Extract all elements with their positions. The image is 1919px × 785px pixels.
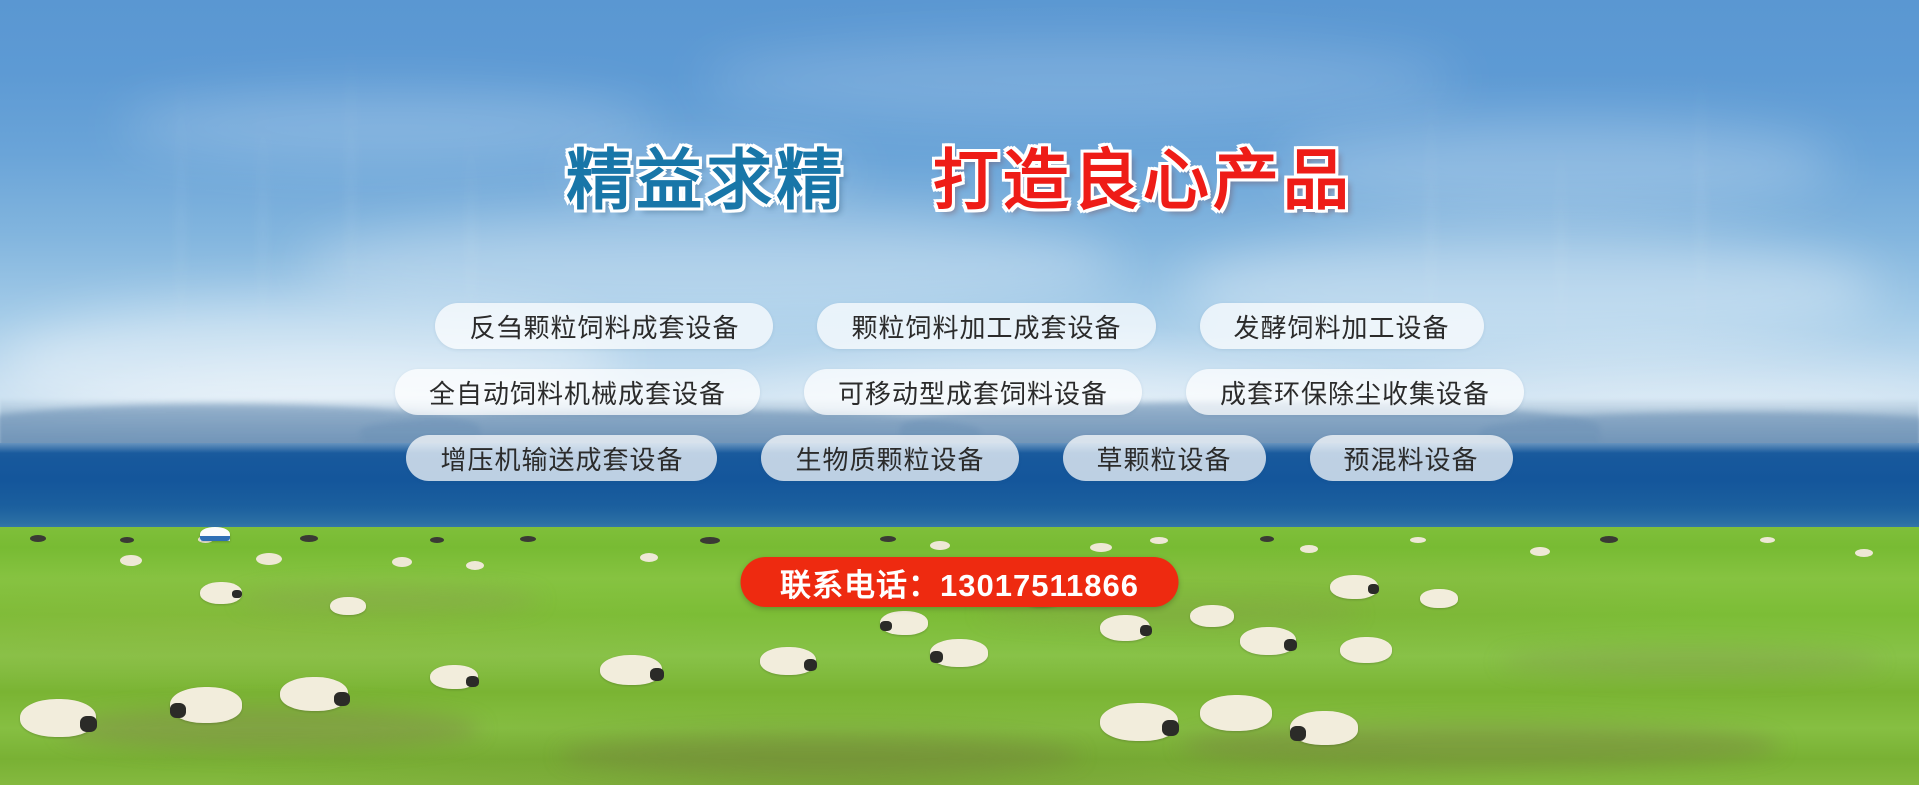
yurt: [200, 527, 230, 541]
sheep: [1340, 637, 1392, 663]
cloud-wisp: [700, 40, 1460, 120]
category-pill-fermented-feed-processing-equipment[interactable]: 发酵饲料加工设备: [1200, 303, 1484, 349]
headline: 精益求精 打造良心产品: [0, 146, 1919, 215]
category-pill-groups: 反刍颗粒饲料成套设备 颗粒饲料加工成套设备 发酵饲料加工设备 全自动饲料机械成套…: [0, 303, 1919, 481]
category-pill-fully-automatic-feed-machinery-complete-equipment[interactable]: 全自动饲料机械成套设备: [395, 369, 760, 415]
sheep: [1100, 615, 1150, 641]
category-pill-premix-equipment[interactable]: 预混料设备: [1310, 435, 1513, 481]
category-pill-ruminant-pellet-feed-complete-equipment[interactable]: 反刍颗粒饲料成套设备: [435, 303, 773, 349]
sheep: [1420, 589, 1458, 608]
sheep: [170, 687, 242, 723]
sheep: [20, 699, 96, 737]
category-row-1: 反刍颗粒饲料成套设备 颗粒饲料加工成套设备 发酵饲料加工设备: [435, 303, 1483, 349]
category-pill-biomass-pellet-equipment[interactable]: 生物质颗粒设备: [761, 435, 1018, 481]
headline-secondary: 打造良心产品: [933, 146, 1353, 215]
sheep: [330, 597, 366, 615]
sheep: [430, 665, 478, 689]
sheep: [760, 647, 816, 675]
headline-primary: 精益求精: [566, 146, 846, 215]
hero-banner: 精益求精 打造良心产品 反刍颗粒饲料成套设备 颗粒饲料加工成套设备 发酵饲料加工…: [0, 0, 1919, 785]
sheep: [1190, 605, 1234, 627]
category-pill-movable-complete-feed-equipment[interactable]: 可移动型成套饲料设备: [804, 369, 1142, 415]
contact-phone-badge[interactable]: 联系电话：13017511866: [740, 557, 1179, 607]
sheep: [600, 655, 662, 685]
sheep: [280, 677, 348, 711]
sheep: [200, 582, 242, 604]
sheep: [1290, 711, 1358, 745]
sheep: [930, 639, 988, 667]
category-pill-booster-conveying-complete-equipment[interactable]: 增压机输送成套设备: [406, 435, 717, 481]
sheep: [1100, 703, 1178, 741]
category-row-2: 全自动饲料机械成套设备 可移动型成套饲料设备 成套环保除尘收集设备: [395, 369, 1524, 415]
category-pill-grass-pellet-equipment[interactable]: 草颗粒设备: [1063, 435, 1266, 481]
sheep: [880, 611, 928, 635]
category-pill-complete-environmental-dust-collection-equipment[interactable]: 成套环保除尘收集设备: [1186, 369, 1524, 415]
sheep: [1200, 695, 1272, 731]
category-row-3: 增压机输送成套设备 生物质颗粒设备 草颗粒设备 预混料设备: [406, 435, 1512, 481]
category-pill-pellet-feed-processing-complete-equipment[interactable]: 颗粒饲料加工成套设备: [817, 303, 1155, 349]
sheep: [1240, 627, 1296, 655]
sheep: [1330, 575, 1378, 599]
